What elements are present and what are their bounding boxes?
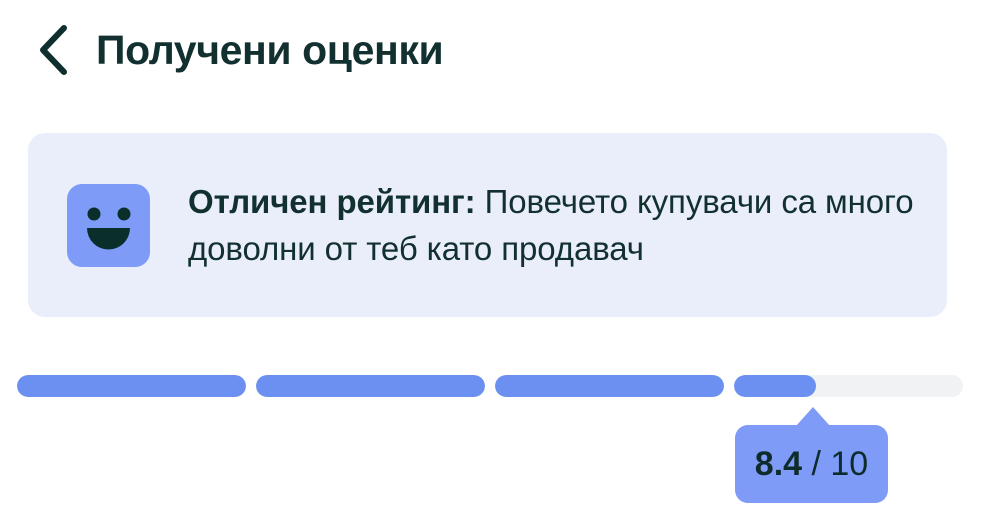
rating-summary-text: Отличен рейтинг: Повечето купувачи са мн… xyxy=(188,178,917,272)
score-value: 8.4 xyxy=(755,445,802,483)
rating-segment-fill xyxy=(734,375,816,397)
rating-summary-card: Отличен рейтинг: Повечето купувачи са мн… xyxy=(28,133,947,317)
score-badge-pointer xyxy=(796,407,830,426)
smiley-face-icon xyxy=(67,184,150,267)
rating-summary-lead: Отличен рейтинг: xyxy=(188,183,476,220)
rating-segment[interactable] xyxy=(256,375,485,397)
back-button[interactable] xyxy=(16,13,90,87)
page-header: Получени оценки xyxy=(0,0,1000,100)
rating-segment-fill xyxy=(495,375,724,397)
rating-segment[interactable] xyxy=(495,375,724,397)
rating-segment-fill xyxy=(17,375,246,397)
rating-segment-fill xyxy=(256,375,485,397)
clipped-bottom-row xyxy=(0,518,1000,526)
rating-segment[interactable] xyxy=(734,375,963,397)
page-title: Получени оценки xyxy=(96,30,443,71)
rating-progress-bars xyxy=(17,375,963,397)
score-max: / 10 xyxy=(802,445,868,483)
rating-segment[interactable] xyxy=(17,375,246,397)
score-badge: 8.4 / 10 xyxy=(735,425,888,503)
chevron-left-icon xyxy=(36,24,70,76)
score-badge-text: 8.4 / 10 xyxy=(755,445,868,484)
